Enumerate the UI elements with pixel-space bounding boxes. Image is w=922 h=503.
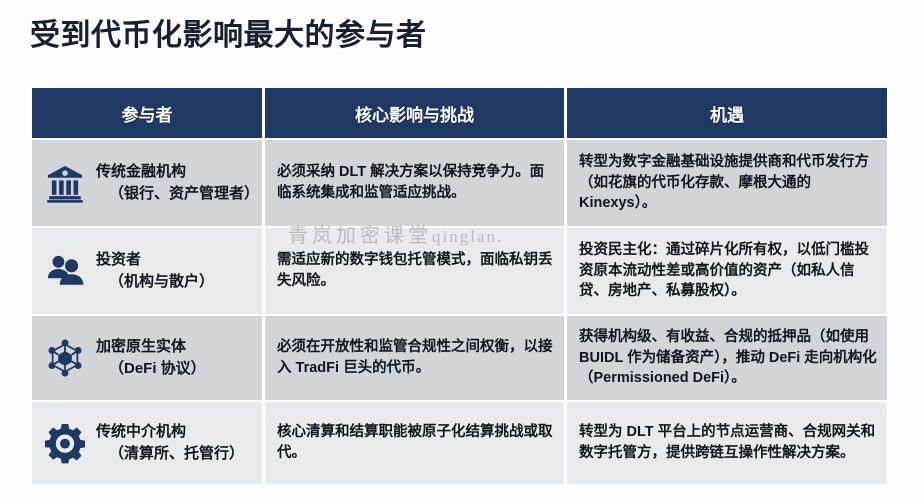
table-header-opportunity: 机遇 — [567, 88, 887, 138]
opportunity-text: 转型为 DLT 平台上的节点运营商、合规网关和数字托管方，提供跨链互操作性解决方… — [579, 422, 877, 463]
users-icon — [42, 248, 88, 294]
opportunity-text: 获得机构级、有收益、合规的抵押品（如使用 BUIDL 作为储备资产），推动 De… — [579, 327, 877, 389]
table-header-impact: 核心影响与挑战 — [265, 88, 567, 138]
actor-label: 加密原生实体 （DeFi 协议） — [96, 336, 206, 380]
actor-label-line1: 传统中介机构 — [96, 421, 244, 443]
table-row: 传统中介机构 （清算所、托管行） 核心清算和结算职能被原子化结算挑战或取代。 转… — [32, 400, 890, 484]
gear-icon — [42, 420, 88, 466]
actor-label-line1: 加密原生实体 — [96, 336, 206, 358]
actor-label-line1: 投资者 — [96, 249, 214, 271]
actor-cell: 传统金融机构 （银行、资产管理者） — [32, 140, 265, 226]
actor-label-line2: （DeFi 协议） — [96, 358, 206, 380]
impact-text: 需适应新的数字钱包托管模式，面临私钥丢失风险。 — [277, 250, 554, 291]
impact-text: 必须在开放性和监管合规性之间权衡，以接入 TradFi 巨头的代币。 — [277, 337, 554, 378]
opportunity-cell: 转型为 DLT 平台上的节点运营商、合规网关和数字托管方，提供跨链互操作性解决方… — [567, 402, 887, 484]
impact-cell: 必须在开放性和监管合规性之间权衡，以接入 TradFi 巨头的代币。 — [265, 316, 567, 400]
opportunity-cell: 转型为数字金融基础设施提供商和代币发行方（如花旗的代币化存款、摩根大通的 Kin… — [567, 140, 887, 226]
network-cube-icon — [42, 335, 88, 381]
actor-cell: 传统中介机构 （清算所、托管行） — [32, 402, 265, 484]
opportunity-cell: 投资民主化：通过碎片化所有权，以低门槛投资原本流动性差或高价值的资产（如私人信贷… — [567, 228, 887, 314]
table-row: 加密原生实体 （DeFi 协议） 必须在开放性和监管合规性之间权衡，以接入 Tr… — [32, 314, 890, 400]
actor-label: 传统中介机构 （清算所、托管行） — [96, 421, 244, 465]
actor-label: 传统金融机构 （银行、资产管理者） — [96, 161, 252, 205]
impact-text: 必须采纳 DLT 解决方案以保持竞争力。面临系统集成和监管适应挑战。 — [277, 162, 554, 203]
actor-cell: 投资者 （机构与散户） — [32, 228, 265, 314]
impact-table: 参与者 核心影响与挑战 机遇 — [32, 88, 890, 486]
impact-cell: 需适应新的数字钱包托管模式，面临私钥丢失风险。 — [265, 228, 567, 314]
opportunity-text: 投资民主化：通过碎片化所有权，以低门槛投资原本流动性差或高价值的资产（如私人信贷… — [579, 240, 877, 302]
page-title: 受到代币化影响最大的参与者 — [30, 18, 427, 54]
table-header-row: 参与者 核心影响与挑战 机遇 — [32, 88, 890, 138]
slide-root: 受到代币化影响最大的参与者 参与者 核心影响与挑战 机遇 — [0, 0, 922, 503]
actor-label-line2: （银行、资产管理者） — [96, 183, 252, 205]
opportunity-cell: 获得机构级、有收益、合规的抵押品（如使用 BUIDL 作为储备资产），推动 De… — [567, 316, 887, 400]
actor-label-line1: 传统金融机构 — [96, 161, 252, 183]
opportunity-text: 转型为数字金融基础设施提供商和代币发行方（如花旗的代币化存款、摩根大通的 Kin… — [579, 152, 877, 214]
impact-cell: 必须采纳 DLT 解决方案以保持竞争力。面临系统集成和监管适应挑战。 — [265, 140, 567, 226]
impact-text: 核心清算和结算职能被原子化结算挑战或取代。 — [277, 422, 554, 463]
bank-icon — [42, 160, 88, 206]
actor-label: 投资者 （机构与散户） — [96, 249, 214, 293]
table-header-actor: 参与者 — [32, 88, 265, 138]
actor-label-line2: （机构与散户） — [96, 271, 214, 293]
actor-label-line2: （清算所、托管行） — [96, 443, 244, 465]
impact-cell: 核心清算和结算职能被原子化结算挑战或取代。 — [265, 402, 567, 484]
table-row: 传统金融机构 （银行、资产管理者） 必须采纳 DLT 解决方案以保持竞争力。面临… — [32, 138, 890, 226]
table-row: 投资者 （机构与散户） 需适应新的数字钱包托管模式，面临私钥丢失风险。 投资民主… — [32, 226, 890, 314]
actor-cell: 加密原生实体 （DeFi 协议） — [32, 316, 265, 400]
